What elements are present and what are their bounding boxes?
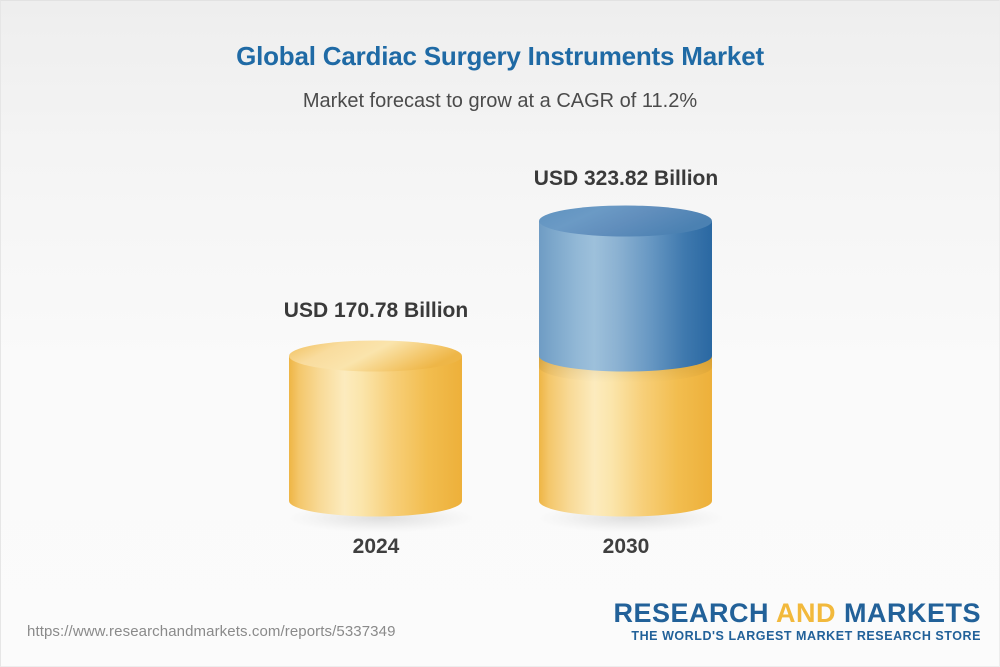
category-label-2030: 2030 (546, 535, 706, 559)
logo-wordmark: RESEARCH AND MARKETS (613, 599, 981, 627)
logo-tagline: THE WORLD'S LARGEST MARKET RESEARCH STOR… (613, 629, 981, 643)
category-label-2024: 2024 (296, 535, 456, 559)
value-label-2030: USD 323.82 Billion (526, 167, 726, 191)
bar-chart-plot (1, 1, 1000, 667)
logo-word-research: RESEARCH (613, 598, 776, 628)
chart-canvas: Global Cardiac Surgery Instruments Marke… (0, 0, 1000, 667)
value-label-2024: USD 170.78 Billion (276, 299, 476, 323)
source-url[interactable]: https://www.researchandmarkets.com/repor… (27, 623, 396, 640)
logo-word-markets: MARKETS (844, 598, 981, 628)
logo-word-and: AND (776, 598, 844, 628)
bar-cylinder-2024[interactable] (289, 341, 462, 517)
research-and-markets-logo[interactable]: RESEARCH AND MARKETS THE WORLD'S LARGEST… (613, 599, 981, 643)
bar-cylinder-2030[interactable] (539, 206, 712, 517)
